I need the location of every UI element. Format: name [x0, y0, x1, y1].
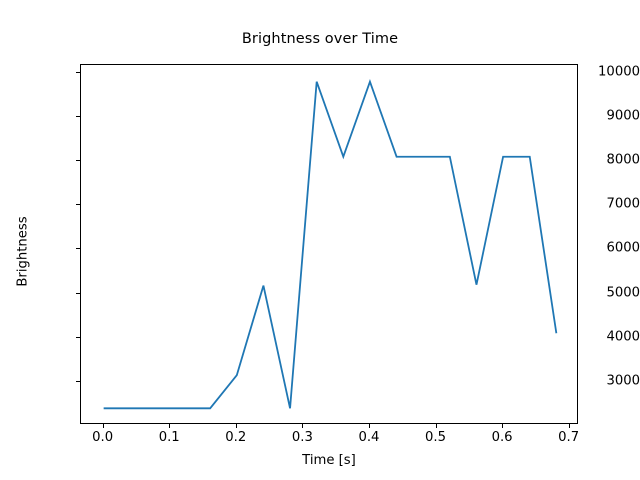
- x-tick-label: 0.7: [539, 430, 599, 445]
- y-tick-label: 9000: [578, 108, 640, 123]
- y-tick-label: 3000: [578, 373, 640, 388]
- x-tick-label: 0.3: [272, 430, 332, 445]
- y-tick-label: 6000: [578, 241, 640, 256]
- x-tick-label: 0.2: [206, 430, 266, 445]
- x-tick-label: 0.1: [139, 430, 199, 445]
- series-plot: [81, 65, 579, 425]
- y-tick-label: 5000: [578, 285, 640, 300]
- x-tick-label: 0.0: [73, 430, 133, 445]
- y-axis-label: Brightness: [16, 152, 31, 352]
- chart-title: Brightness over Time: [0, 31, 640, 47]
- line-series-brightness: [104, 82, 557, 409]
- x-tick-label: 0.5: [406, 430, 466, 445]
- y-tick-label: 4000: [578, 329, 640, 344]
- y-tick-label: 7000: [578, 197, 640, 212]
- y-tick-label: 8000: [578, 153, 640, 168]
- matplotlib-figure: Brightness over Time Brightness 30004000…: [0, 0, 640, 480]
- y-tick-label: 10000: [578, 64, 640, 79]
- x-tick-label: 0.4: [339, 430, 399, 445]
- x-axis-label: Time [s]: [80, 453, 578, 468]
- plot-area: [80, 64, 578, 424]
- x-tick-label: 0.6: [472, 430, 532, 445]
